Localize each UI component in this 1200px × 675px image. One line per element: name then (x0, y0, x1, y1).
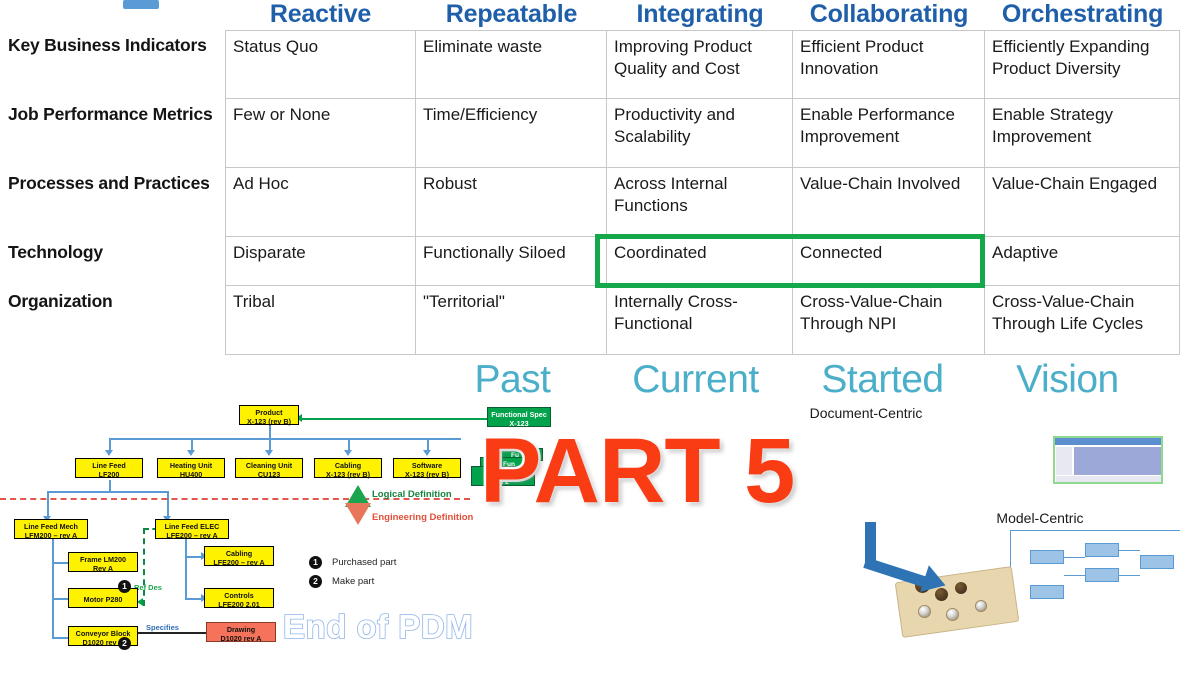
cell-jpm-reactive: Few or None (225, 99, 416, 168)
label-logical-definition: Logical Definition (372, 489, 452, 500)
column-header-collaborating: Collaborating (793, 0, 985, 30)
connector-lfm-stem (47, 491, 49, 519)
cell-pap-reactive: Ad Hoc (225, 168, 416, 237)
legend-label-purchased-part: Purchased part (332, 557, 396, 568)
box-functional-spec-line1: Functional Spec (491, 410, 547, 419)
box-line-feed-line1: Line Feed (92, 461, 126, 470)
pcb-hole-3 (975, 600, 987, 612)
cell-org-repeatable: "Territorial" (416, 286, 607, 355)
box-line-feed-mech-line2: LFM200 – rev A (15, 531, 87, 540)
schematic-block-3 (1085, 568, 1119, 582)
row-label-key-business-indicators: Key Business Indicators (8, 35, 218, 56)
legend-label-make-part: Make part (332, 576, 374, 587)
cell-kbi-collaborating: Efficient Product Innovation (793, 30, 985, 99)
schematic-block-2 (1085, 543, 1119, 557)
cell-pap-orchestrating: Value-Chain Engaged (985, 168, 1180, 237)
legend-marker-2: 2 (309, 575, 322, 588)
box-line-feed-line2: LF200 (76, 470, 142, 479)
schematic-wire-3 (1119, 550, 1140, 551)
connector-lfm-spine (52, 537, 54, 637)
box-software-line2: X-123 (rev B) (394, 470, 460, 479)
cell-tech-repeatable: Functionally Siloed (416, 237, 607, 286)
box-cabling-top[interactable]: Cabling X-123 (rev B) (314, 458, 382, 478)
connector-lfe-spine (185, 537, 187, 600)
row-label-organization: Organization (8, 291, 218, 312)
schematic-block-4 (1140, 555, 1174, 569)
cell-jpm-integrating: Productivity and Scalability (607, 99, 793, 168)
cell-jpm-orchestrating: Enable Strategy Improvement (985, 99, 1180, 168)
arrow-down-cleaning (265, 450, 273, 456)
box-frame-line1: Frame LM200 (80, 555, 126, 564)
box-cabling-elec-line1: Cabling (226, 549, 252, 558)
mini-app-canvas (1074, 447, 1163, 475)
box-cleaning-unit-line1: Cleaning Unit (246, 461, 292, 470)
box-line-feed-elec[interactable]: Line Feed ELEC LFE200 – rev A (155, 519, 229, 539)
box-product-line2: X-123 (rev B) (240, 417, 298, 426)
end-of-pdm-overlay: End of PDM (283, 608, 473, 646)
arrow-down-linefeed (105, 450, 113, 456)
cell-tech-collaborating: Connected (793, 237, 985, 286)
row-label-job-performance-metrics: Job Performance Metrics (8, 104, 218, 125)
cell-org-reactive: Tribal (225, 286, 416, 355)
cell-pap-collaborating: Value-Chain Involved (793, 168, 985, 237)
arrow-down-cabling (344, 450, 352, 456)
column-header-repeatable: Repeatable (416, 0, 607, 30)
caption-model-centric: Model-Centric (960, 510, 1120, 526)
pcb-hole-2 (946, 608, 959, 621)
box-cleaning-unit[interactable]: Cleaning Unit CU123 (235, 458, 303, 478)
stage-label-past: Past (440, 358, 585, 402)
box-cabling-elec[interactable]: Cabling LFE200 – rev A (204, 546, 274, 566)
box-product[interactable]: Product X-123 (rev B) (239, 405, 299, 425)
box-line-feed-mech[interactable]: Line Feed Mech LFM200 – rev A (14, 519, 88, 539)
cell-jpm-repeatable: Time/Efficiency (416, 99, 607, 168)
box-controls-line2: LFE200 2.01 (205, 600, 273, 609)
schematic-wire-5 (1010, 530, 1180, 531)
edge-label-ref-des: Ref Des (134, 583, 162, 592)
cell-kbi-repeatable: Eliminate waste (416, 30, 607, 99)
cell-kbi-orchestrating: Efficiently Expanding Product Diversity (985, 30, 1180, 99)
schematic-wire-2 (1064, 575, 1085, 576)
box-cabling-top-line2: X-123 (rev B) (315, 470, 381, 479)
schematic-wire-4 (1119, 575, 1140, 576)
connector-specifies (133, 632, 206, 634)
mini-app-toolbar (1056, 476, 1163, 484)
maturity-table-header-row: Reactive Repeatable Integrating Collabor… (0, 0, 1200, 30)
bullet-marker-1-motor: 1 (118, 580, 131, 593)
cell-tech-reactive: Disparate (225, 237, 416, 286)
box-software-line1: Software (412, 461, 442, 470)
arrow-down-software (423, 450, 431, 456)
schematic-block-1 (1030, 550, 1064, 564)
pcb-capacitor-3 (955, 582, 967, 594)
cell-tech-orchestrating: Adaptive (985, 237, 1180, 286)
connector-level1-bus (109, 438, 461, 440)
edge-label-specifies: Specifies (146, 623, 179, 632)
bullet-marker-2-conveyor: 2 (118, 637, 131, 650)
arrow-down-heating (187, 450, 195, 456)
box-line-feed-elec-line1: Line Feed ELEC (165, 522, 220, 531)
mini-app-screenshot (1053, 436, 1163, 484)
maturity-table-grid: Status Quo Eliminate waste Improving Pro… (225, 30, 1180, 355)
cell-kbi-integrating: Improving Product Quality and Cost (607, 30, 793, 99)
row-label-technology: Technology (8, 242, 218, 263)
schematic-wire-1 (1064, 557, 1085, 558)
box-controls[interactable]: Controls LFE200 2.01 (204, 588, 274, 608)
caption-document-centric: Document-Centric (790, 405, 942, 421)
legend-marker-1: 1 (309, 556, 322, 569)
column-header-reactive: Reactive (225, 0, 416, 30)
box-frame[interactable]: Frame LM200 Rev A (68, 552, 138, 572)
cell-org-collaborating: Cross-Value-Chain Through NPI (793, 286, 985, 355)
box-drawing-line2: D1020 rev A (207, 634, 275, 643)
part-number-overlay: PART 5 (480, 425, 794, 517)
cell-org-integrating: Internally Cross-Functional (607, 286, 793, 355)
box-controls-line1: Controls (224, 591, 254, 600)
connector-funcspec-to-product (300, 418, 490, 420)
box-software[interactable]: Software X-123 (rev B) (393, 458, 461, 478)
stage-label-current: Current (623, 358, 768, 402)
box-line-feed-elec-line2: LFE200 – rev A (156, 531, 228, 540)
box-line-feed-mech-line1: Line Feed Mech (24, 522, 78, 531)
box-cabling-top-line1: Cabling (335, 461, 361, 470)
stage-label-started: Started (810, 358, 955, 402)
column-header-orchestrating: Orchestrating (985, 0, 1180, 30)
box-cleaning-unit-line2: CU123 (236, 470, 302, 479)
label-engineering-definition: Engineering Definition (372, 512, 473, 523)
mini-app-sidebar (1056, 447, 1072, 475)
box-frame-line2: Rev A (69, 564, 137, 573)
stage-label-vision: Vision (995, 358, 1140, 402)
box-motor-label: Motor P280 (84, 595, 123, 604)
cell-tech-integrating: Coordinated (607, 237, 793, 286)
cell-pap-integrating: Across Internal Functions (607, 168, 793, 237)
cell-kbi-reactive: Status Quo (225, 30, 416, 99)
box-heating-unit-line1: Heating Unit (170, 461, 212, 470)
cell-pap-repeatable: Robust (416, 168, 607, 237)
box-drawing-line1: Drawing (227, 625, 255, 634)
pcb-hole-1 (918, 605, 931, 618)
triangle-down-engineering-definition (345, 503, 371, 525)
row-label-processes-and-practices: Processes and Practices (8, 173, 218, 194)
box-drawing[interactable]: Drawing D1020 rev A (206, 622, 276, 642)
cell-org-orchestrating: Cross-Value-Chain Through Life Cycles (985, 286, 1180, 355)
schematic-block-5 (1030, 585, 1064, 599)
cell-jpm-collaborating: Enable Performance Improvement (793, 99, 985, 168)
connector-level2-bus (47, 491, 167, 493)
column-header-integrating: Integrating (607, 0, 793, 30)
box-product-line1: Product (255, 408, 282, 417)
box-cabling-elec-line2: LFE200 – rev A (205, 558, 273, 567)
maturity-table: Reactive Repeatable Integrating Collabor… (0, 0, 1200, 358)
box-heating-unit[interactable]: Heating Unit HU400 (157, 458, 225, 478)
box-heating-unit-line2: HU400 (158, 470, 224, 479)
box-line-feed[interactable]: Line Feed LF200 (75, 458, 143, 478)
connector-lfe-stem (167, 491, 169, 519)
mini-app-titlebar (1055, 438, 1161, 445)
